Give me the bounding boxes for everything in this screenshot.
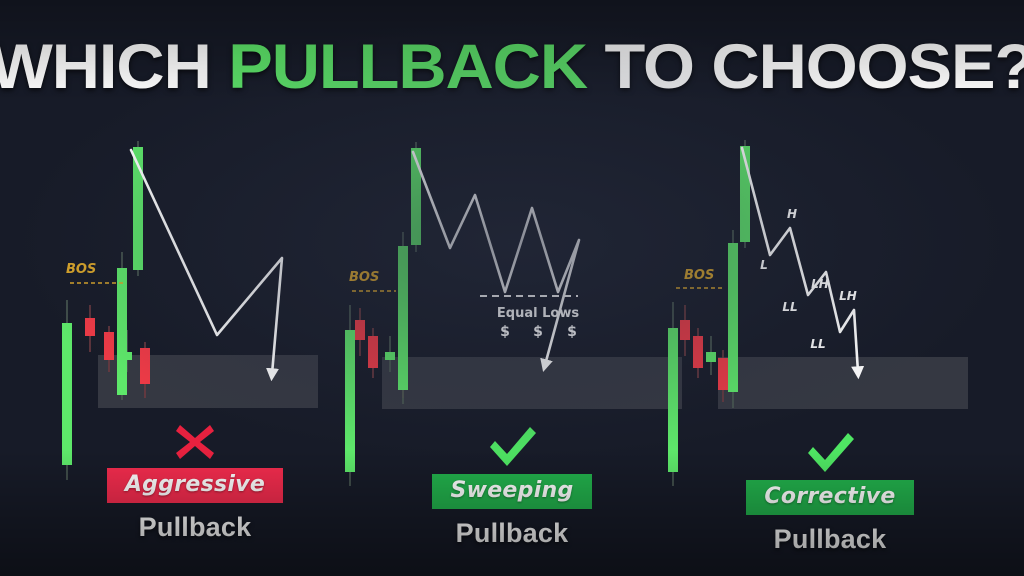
caption-pullback-3: Pullback — [700, 524, 960, 555]
cross-icon — [65, 418, 325, 466]
candle — [668, 302, 678, 486]
candle — [368, 328, 378, 378]
thumbnail-canvas: WHICH PULLBACK TO CHOOSE? BOSBOSEqual Lo… — [0, 0, 1024, 576]
candle-body — [706, 352, 716, 362]
candle-body — [718, 358, 728, 390]
candle — [117, 252, 127, 400]
price-path — [131, 150, 282, 374]
caption-pullback-1: Pullback — [65, 512, 325, 543]
liquidity-marker: $ — [500, 324, 510, 340]
candle-body — [140, 348, 150, 384]
supply-zone — [98, 355, 318, 408]
candle-body — [104, 332, 114, 360]
structure-label: LL — [810, 337, 825, 351]
supply-zone — [382, 357, 682, 409]
structure-label: L — [760, 258, 768, 272]
candle-body — [693, 336, 703, 368]
candle — [398, 232, 408, 404]
check-icon — [700, 430, 960, 478]
candle — [728, 230, 738, 408]
candle-body — [355, 320, 365, 340]
bos-label: BOS — [684, 268, 714, 283]
candle — [133, 141, 143, 276]
check-icon — [382, 424, 642, 472]
badge-aggressive[interactable]: Aggressive — [107, 468, 283, 503]
candle-body — [368, 336, 378, 368]
candle-body — [345, 330, 355, 472]
verdict-block-sweeping: Sweeping Pullback — [382, 424, 642, 549]
supply-zone — [718, 357, 968, 409]
candle-body — [728, 243, 738, 392]
candle — [355, 308, 365, 356]
verdict-block-aggressive: Aggressive Pullback — [65, 418, 325, 543]
structure-label: Equal Lows — [497, 306, 579, 321]
candle — [680, 305, 690, 356]
caption-pullback-2: Pullback — [382, 518, 642, 549]
badge-sweeping[interactable]: Sweeping — [432, 474, 591, 509]
candle-body — [680, 320, 690, 340]
candle — [345, 305, 355, 486]
candle — [85, 305, 95, 352]
badge-corrective[interactable]: Corrective — [746, 480, 913, 515]
liquidity-marker: $ — [567, 324, 577, 340]
candle — [706, 336, 716, 375]
candle-body — [668, 328, 678, 472]
candle-body — [85, 318, 95, 336]
structure-label: LL — [782, 300, 797, 314]
candle-body — [398, 246, 408, 390]
structure-label: LH — [811, 277, 829, 291]
candle-body — [117, 268, 127, 395]
bos-label: BOS — [66, 262, 96, 277]
structure-label: H — [787, 207, 797, 221]
candle — [693, 328, 703, 378]
candle-body — [385, 352, 395, 360]
bos-label: BOS — [349, 270, 379, 285]
price-path — [413, 152, 579, 365]
liquidity-marker: $ — [533, 324, 543, 340]
structure-label: LH — [839, 289, 857, 303]
verdict-block-corrective: Corrective Pullback — [700, 430, 960, 555]
